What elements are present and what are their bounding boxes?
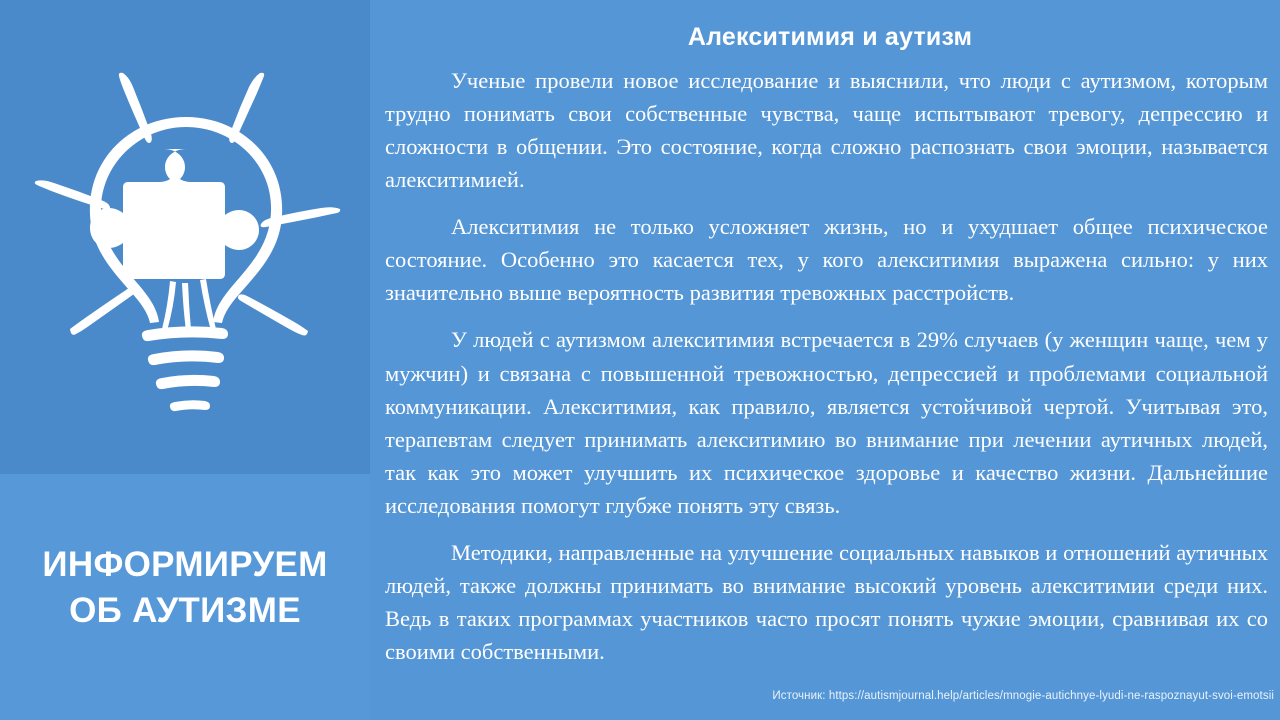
- left-panel: ИНФОРМИРУЕМ ОБ АУТИЗМЕ: [0, 0, 370, 720]
- article-paragraph: Алекситимия не только усложняет жизнь, н…: [385, 210, 1268, 309]
- brand-title: ИНФОРМИРУЕМ ОБ АУТИЗМЕ: [42, 542, 327, 634]
- article-title: Алекситимия и аутизм: [385, 23, 1275, 52]
- article-paragraph: Ученые провели новое исследование и выяс…: [385, 64, 1268, 196]
- right-panel: Алекситимия и аутизм Ученые провели ново…: [370, 0, 1280, 720]
- article-paragraph: У людей с аутизмом алекситимия встречает…: [385, 323, 1268, 521]
- infographic-slide: ИНФОРМИРУЕМ ОБ АУТИЗМЕ Алекситимия и аут…: [0, 0, 1280, 720]
- article-paragraph: Методики, направленные на улучшение соци…: [385, 536, 1268, 668]
- source-link[interactable]: Источник: https://autismjournal.help/art…: [490, 690, 1274, 702]
- article-body: Ученые провели новое исследование и выяс…: [385, 64, 1275, 668]
- brand-area: ИНФОРМИРУЕМ ОБ АУТИЗМЕ: [0, 474, 370, 720]
- lightbulb-puzzle-icon: [20, 31, 350, 451]
- illustration-area: [0, 0, 370, 474]
